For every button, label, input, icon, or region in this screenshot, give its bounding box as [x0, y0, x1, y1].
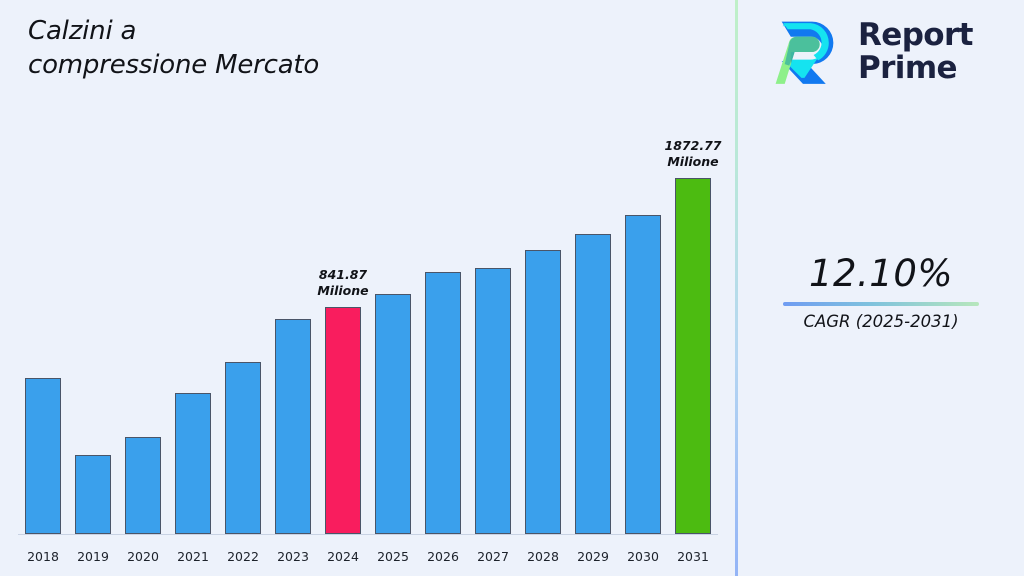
x-axis-label-2024: 2024 — [318, 549, 368, 564]
x-axis-label-2025: 2025 — [368, 549, 418, 564]
x-axis-label-2028: 2028 — [518, 549, 568, 564]
x-axis-label-2030: 2030 — [618, 549, 668, 564]
bar-2022[interactable] — [225, 362, 261, 534]
chart-panel: Calzini a compressione Mercato 201820192… — [0, 0, 736, 576]
bar-value-label-2031: 1872.77 Milione — [652, 138, 734, 171]
x-axis-label-2026: 2026 — [418, 549, 468, 564]
x-axis-label-2023: 2023 — [268, 549, 318, 564]
brand-panel: Report Prime 12.10% CAGR (2025-2031) — [738, 0, 1024, 576]
infographic-canvas: Calzini a compressione Mercato 201820192… — [0, 0, 1024, 576]
x-axis-label-2019: 2019 — [68, 549, 118, 564]
page-title: Calzini a compressione Mercato — [28, 14, 448, 83]
cagr-value: 12.10% — [750, 252, 1012, 295]
brand-name-line2: Prime — [858, 50, 957, 86]
bar-2025[interactable] — [375, 294, 411, 534]
cagr-divider-rule — [783, 302, 979, 306]
bar-2018[interactable] — [25, 378, 61, 534]
x-axis-label-2027: 2027 — [468, 549, 518, 564]
cagr-label: CAGR (2025-2031) — [750, 312, 1012, 331]
x-axis-label-2021: 2021 — [168, 549, 218, 564]
cagr-block: 12.10% CAGR (2025-2031) — [750, 252, 1012, 331]
bar-chart: 201820192020202120222023841.87 Milione20… — [0, 110, 736, 576]
bar-2024[interactable] — [325, 307, 361, 534]
bar-series: 201820192020202120222023841.87 Milione20… — [0, 110, 736, 576]
x-axis-label-2020: 2020 — [118, 549, 168, 564]
bar-2027[interactable] — [475, 268, 511, 534]
x-axis-label-2018: 2018 — [18, 549, 68, 564]
x-axis-label-2029: 2029 — [568, 549, 618, 564]
bar-2029[interactable] — [575, 234, 611, 534]
bar-2031[interactable] — [675, 178, 711, 534]
bar-2026[interactable] — [425, 272, 461, 534]
bar-2019[interactable] — [75, 455, 111, 534]
bar-2030[interactable] — [625, 215, 661, 534]
bar-value-label-2024: 841.87 Milione — [302, 267, 384, 300]
bar-2020[interactable] — [125, 437, 161, 534]
brand-wordmark: Report Prime — [858, 19, 973, 86]
report-prime-logo-icon — [768, 14, 844, 90]
bar-2023[interactable] — [275, 319, 311, 534]
bar-2021[interactable] — [175, 393, 211, 534]
bar-2028[interactable] — [525, 250, 561, 534]
x-axis-label-2022: 2022 — [218, 549, 268, 564]
x-axis-label-2031: 2031 — [668, 549, 718, 564]
brand-logo: Report Prime — [768, 14, 973, 90]
brand-name-line1: Report — [858, 17, 973, 53]
